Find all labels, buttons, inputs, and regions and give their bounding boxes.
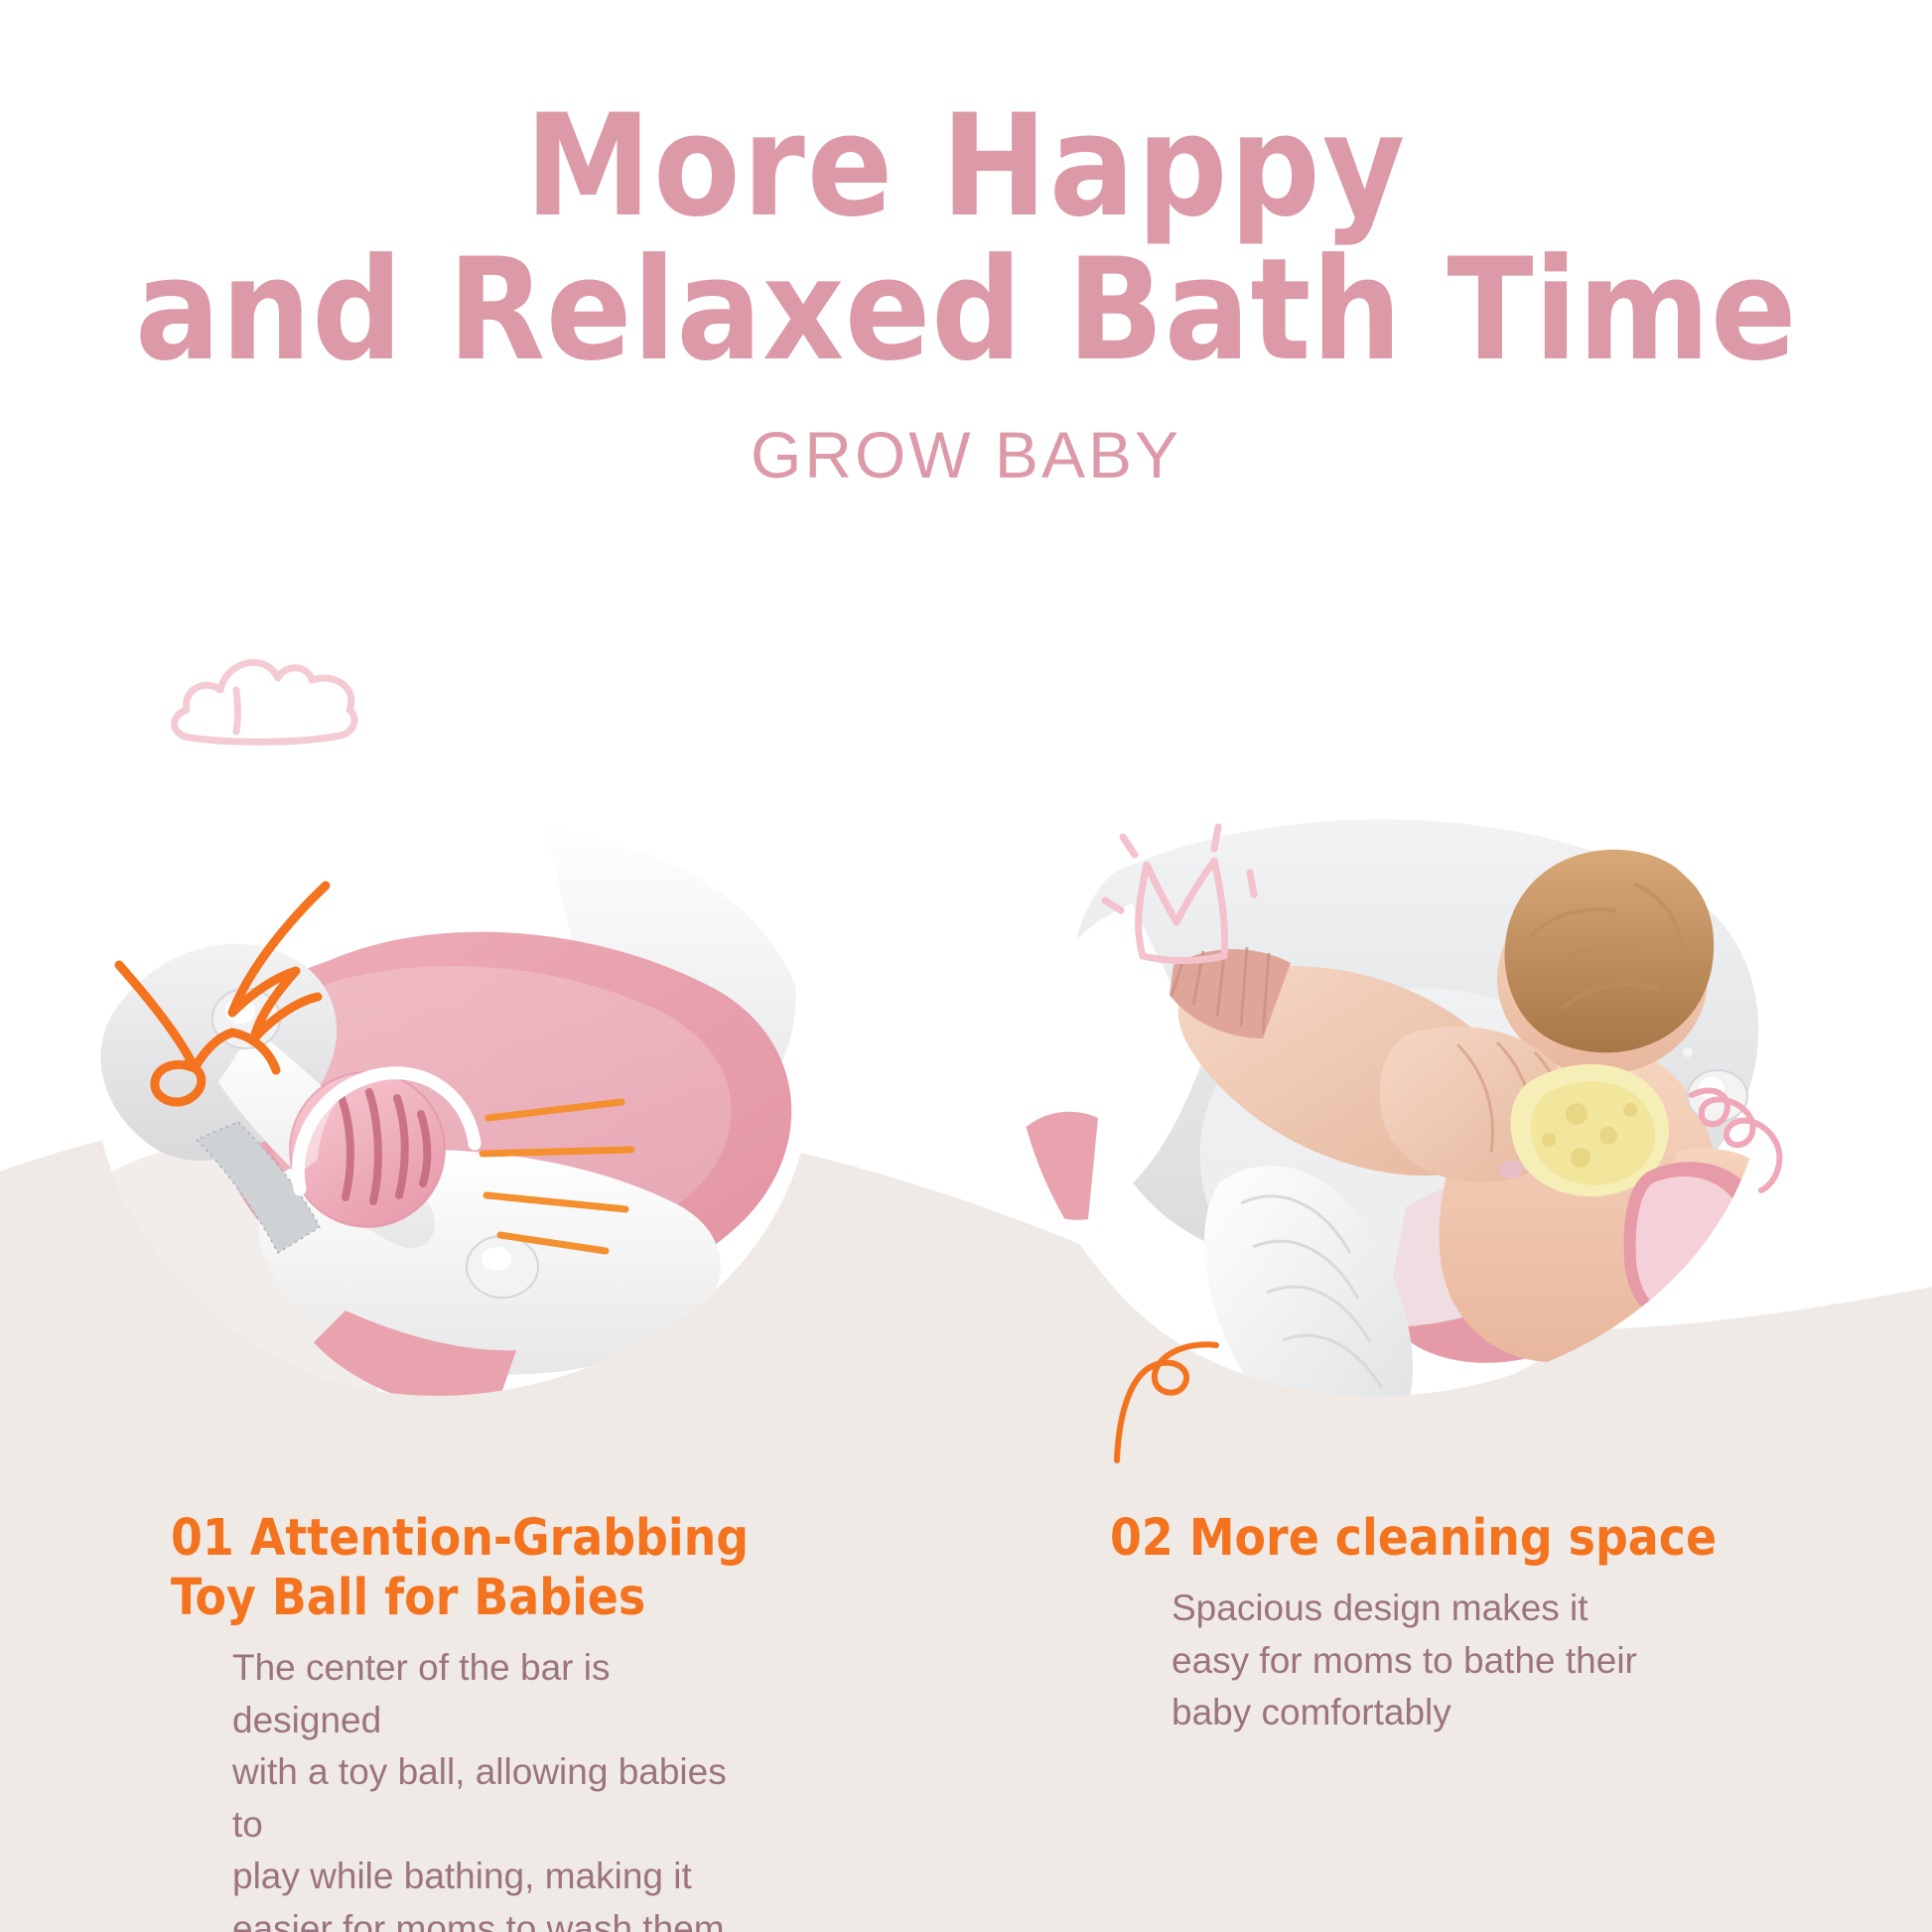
feature-02-body: Spacious design makes it easy for moms t… [1172,1583,1668,1739]
title-line-1: More Happy [0,95,1932,239]
cloud-icon [149,621,367,750]
feature-02-number: 02 [1110,1509,1173,1568]
feature-01-heading: Attention-Grabbing Toy Ball for Babies [171,1509,749,1627]
feature-02-heading: More cleaning space [1189,1509,1717,1568]
page-subtitle: GROW BABY [0,383,1932,492]
feature-01-heading-row: 01Attention-Grabbing Toy Ball for Babies [171,1509,806,1628]
feature-01-body: The center of the bar is designed with a… [232,1642,759,1932]
baby-bath-seat-toy-ball-photo [79,794,834,1430]
header: More Happy and Relaxed Bath Time GROW BA… [0,0,1932,492]
title-line-2: and Relaxed Bath Time [0,239,1932,383]
infographic-page: More Happy and Relaxed Bath Time GROW BA… [0,0,1932,1932]
feature-item-02: 02More cleaning space Spacious design ma… [1110,1509,1745,1739]
page-title: More Happy and Relaxed Bath Time [0,0,1932,383]
mother-bathing-baby-photo [993,755,1787,1449]
feature-01-number: 01 [171,1509,234,1568]
feature-02-heading-row: 02More cleaning space [1110,1509,1745,1569]
feature-item-01: 01Attention-Grabbing Toy Ball for Babies… [171,1509,806,1932]
